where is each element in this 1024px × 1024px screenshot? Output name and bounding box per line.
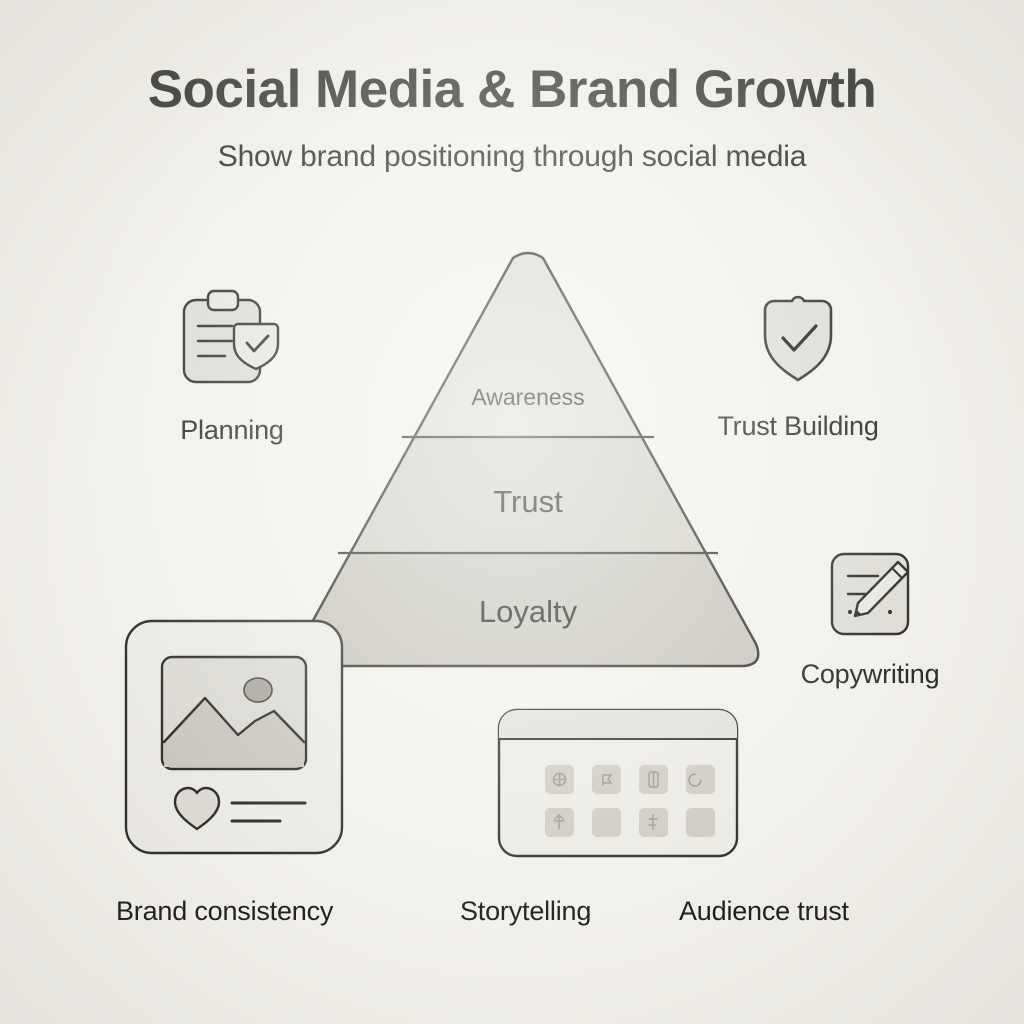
pyramid-tier-loyalty bbox=[268, 553, 788, 713]
shield-check-icon bbox=[676, 292, 920, 393]
social-post-card-icon bbox=[122, 617, 346, 862]
caption-audience-trust: Audience trust bbox=[679, 896, 849, 927]
pyramid-tier-trust bbox=[268, 437, 788, 553]
clipboard-check-icon bbox=[132, 288, 332, 401]
feature-trust-building: Trust Building bbox=[676, 292, 920, 442]
caption-storytelling: Storytelling bbox=[460, 896, 591, 927]
feature-planning: Planning bbox=[132, 288, 332, 446]
feature-copywriting: Copywriting bbox=[760, 546, 980, 690]
header: Social Media & Brand Growth Show brand p… bbox=[0, 62, 1024, 174]
infographic-canvas: Social Media & Brand Growth Show brand p… bbox=[0, 0, 1024, 1024]
feature-label-trust-building: Trust Building bbox=[676, 411, 920, 442]
document-pencil-icon bbox=[760, 546, 980, 647]
page-title: Social Media & Brand Growth bbox=[0, 62, 1024, 118]
app-grid-window-icon bbox=[496, 707, 740, 864]
caption-brand-consistency: Brand consistency bbox=[116, 896, 333, 927]
page-subtitle: Show brand positioning through social me… bbox=[0, 140, 1024, 174]
feature-label-planning: Planning bbox=[132, 415, 332, 446]
feature-label-copywriting: Copywriting bbox=[760, 659, 980, 690]
